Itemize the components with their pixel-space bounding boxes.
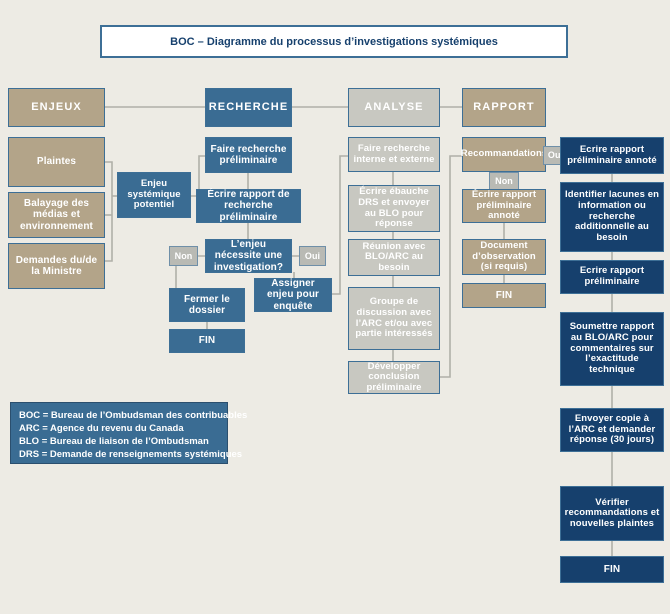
node-decision-necessite-investigation: L’enjeu nécessite une investigation? xyxy=(205,239,292,273)
node-faire-recherche-interne-externe: Faire recherche interne et externe xyxy=(348,137,440,172)
node-balayage-medias: Balayage des médias et environnement xyxy=(8,192,105,238)
node-fin-recherche: FIN xyxy=(169,329,245,353)
column-header-enjeux: ENJEUX xyxy=(8,88,105,127)
legend-line-boc: BOC = Bureau de l’Ombudsman des contribu… xyxy=(19,409,219,422)
flowchart-canvas: BOC – Diagramme du processus d’investiga… xyxy=(0,0,670,614)
node-groupe-discussion: Groupe de discussion avec l’ARC et/ou av… xyxy=(348,287,440,350)
node-demandes-ministre: Demandes du/de la Ministre xyxy=(8,243,105,289)
node-envoyer-copie-arc: Envoyer copie à l’ARC et demander répons… xyxy=(560,408,664,452)
column-header-rapport: RAPPORT xyxy=(462,88,546,127)
node-ecrire-rapport-preliminaire-annote-navy: Ecrire rapport préliminaire annoté xyxy=(560,137,664,174)
node-faire-recherche-preliminaire: Faire recherche préliminaire xyxy=(205,137,292,173)
column-header-analyse: ANALYSE xyxy=(348,88,440,127)
node-verifier-recommandations: Vérifier recommandations et nouvelles pl… xyxy=(560,486,664,541)
node-soumettre-rapport: Soumettre rapport au BLO/ARC pour commen… xyxy=(560,312,664,386)
node-developper-conclusion-preliminaire: Développer conclusion préliminaire xyxy=(348,361,440,394)
node-ecrire-rapport-preliminaire: Ecrire rapport préliminaire xyxy=(560,260,664,294)
diagram-title-bar: BOC – Diagramme du processus d’investiga… xyxy=(100,25,568,58)
node-identifier-lacunes: Identifier lacunes en information ou rec… xyxy=(560,182,664,252)
legend-box: BOC = Bureau de l’Ombudsman des contribu… xyxy=(10,402,228,464)
node-recommandations: Recommandations xyxy=(462,137,546,172)
node-fermer-le-dossier: Fermer le dossier xyxy=(169,288,245,322)
node-plaintes: Plaintes xyxy=(8,137,105,187)
node-ecrire-ebauche-drs: Écrire ébauche DRS et envoyer au BLO pou… xyxy=(348,185,440,232)
decision-tag-oui-recherche: Oui xyxy=(299,246,326,266)
node-ecrire-rapport-recherche-preliminaire: Écrire rapport de recherche préliminaire xyxy=(196,189,301,223)
node-fin-rapport: FIN xyxy=(462,283,546,308)
node-enjeu-systemique-potentiel: Enjeu systémique potentiel xyxy=(117,172,191,218)
node-assigner-enjeu-pour-enquete: Assigner enjeu pour enquête xyxy=(254,278,332,312)
node-fin-navy: FIN xyxy=(560,556,664,583)
legend-line-drs: DRS = Demande de renseignements systémiq… xyxy=(19,448,219,461)
column-header-recherche: RECHERCHE xyxy=(205,88,292,127)
legend-line-blo: BLO = Bureau de liaison de l’Ombudsman xyxy=(19,435,219,448)
node-ecrire-rapport-preliminaire-annote-rapport: Écrire rapport préliminaire annoté xyxy=(462,189,546,223)
node-document-observation: Document d’observation (si requis) xyxy=(462,239,546,275)
legend-line-arc: ARC = Agence du revenu du Canada xyxy=(19,422,219,435)
decision-tag-non-recherche: Non xyxy=(169,246,198,266)
page-title: BOC – Diagramme du processus d’investiga… xyxy=(170,36,498,48)
node-reunion-blo-arc: Réunion avec BLO/ARC au besoin xyxy=(348,239,440,276)
